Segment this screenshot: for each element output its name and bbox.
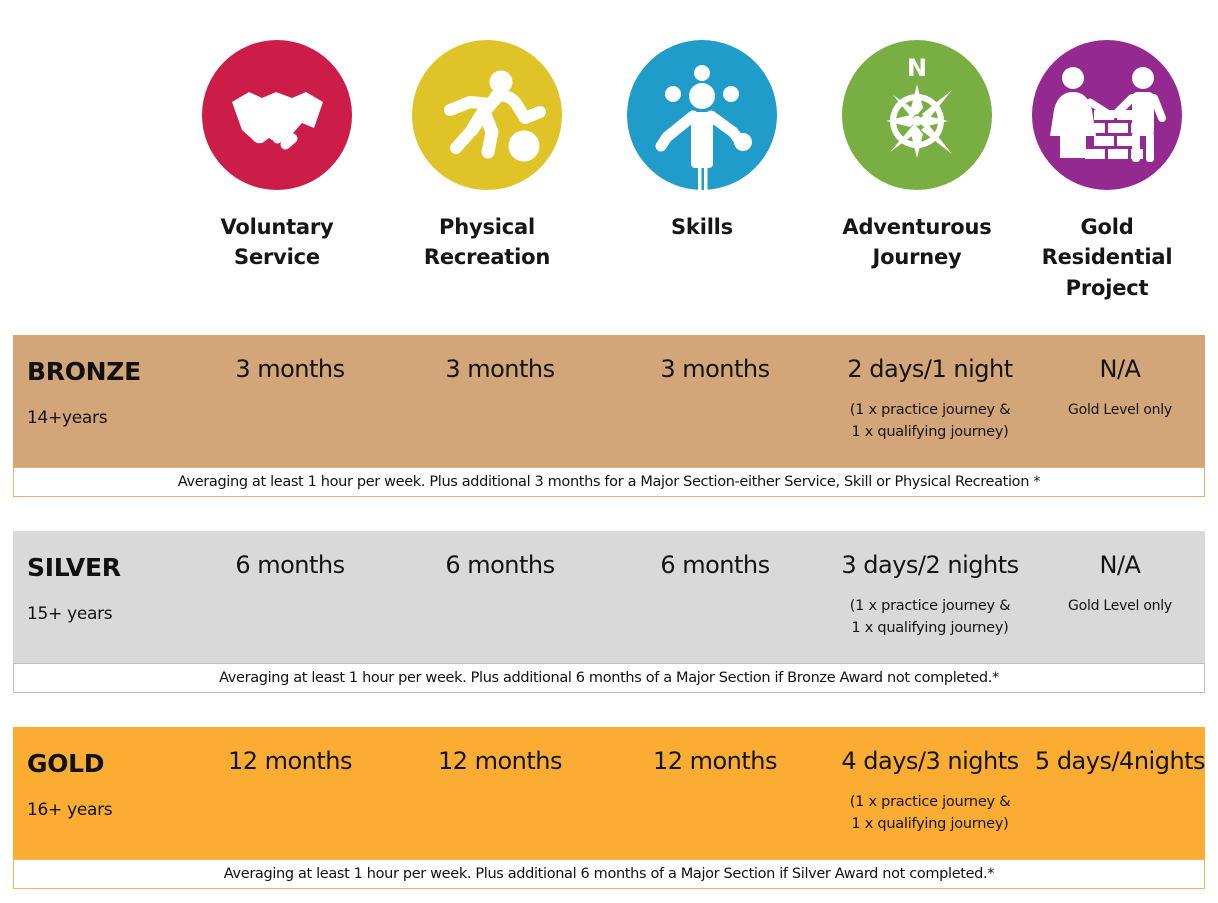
cell-primary-text: 3 months xyxy=(395,355,605,383)
header-label: Skills xyxy=(597,212,807,242)
cell-gold-residential-project: N/A Gold Level only xyxy=(1015,531,1218,663)
level-name: GOLD xyxy=(27,749,104,778)
bricklayers-icon xyxy=(1032,40,1182,190)
header-label: Voluntary Service xyxy=(172,212,382,273)
header-label: Physical Recreation xyxy=(382,212,592,273)
header-column-physical-recreation: Physical Recreation xyxy=(382,0,592,330)
footer-note-text: Averaging at least 1 hour per week. Plus… xyxy=(178,474,1040,490)
cell-adventurous-journey: 4 days/3 nights (1 x practice journey & … xyxy=(825,727,1035,859)
header-column-adventurous-journey: N Adventurous Journey xyxy=(812,0,1022,330)
cell-physical-recreation: 12 months xyxy=(395,727,605,859)
cell-skills: 3 months xyxy=(610,335,820,467)
band-footer-note: Averaging at least 1 hour per week. Plus… xyxy=(13,859,1205,889)
cell-voluntary-service: 3 months xyxy=(185,335,395,467)
cell-adventurous-journey: 3 days/2 nights (1 x practice journey & … xyxy=(825,531,1035,663)
cell-primary-text: 6 months xyxy=(610,551,820,579)
footer-note-text: Averaging at least 1 hour per week. Plus… xyxy=(219,670,999,686)
header-label: Gold Residential Project xyxy=(1002,212,1212,303)
footer-note-text: Averaging at least 1 hour per week. Plus… xyxy=(224,866,994,882)
band-footer-note: Averaging at least 1 hour per week. Plus… xyxy=(13,663,1205,693)
cell-primary-text: 6 months xyxy=(185,551,395,579)
cell-primary-text: 2 days/1 night xyxy=(825,355,1035,383)
header-column-skills: Skills xyxy=(597,0,807,330)
level-age: 15+ years xyxy=(27,604,112,624)
cell-primary-text: 12 months xyxy=(610,747,820,775)
handshake-icon xyxy=(202,40,352,190)
cell-primary-text: 5 days/4nights xyxy=(1015,747,1218,775)
cell-primary-text: 4 days/3 nights xyxy=(825,747,1035,775)
cell-gold-residential-project: N/A Gold Level only xyxy=(1015,335,1218,467)
cell-sub-text: (1 x practice journey & 1 x qualifying j… xyxy=(825,596,1035,640)
header-column-gold-residential-project: Gold Residential Project xyxy=(1002,0,1212,330)
cell-primary-text: N/A xyxy=(1015,355,1218,383)
band-footer-note: Averaging at least 1 hour per week. Plus… xyxy=(13,467,1205,497)
level-name: BRONZE xyxy=(27,357,141,386)
award-band-silver: SILVER 15+ years 6 months 6 months 6 mon… xyxy=(13,531,1205,693)
award-band-gold: GOLD 16+ years 12 months 12 months 12 mo… xyxy=(13,727,1205,889)
juggler-icon xyxy=(627,40,777,190)
cell-primary-text: 12 months xyxy=(185,747,395,775)
compass-icon: N xyxy=(842,40,992,190)
cell-primary-text: 3 months xyxy=(610,355,820,383)
level-age: 16+ years xyxy=(27,800,112,820)
cell-physical-recreation: 6 months xyxy=(395,531,605,663)
cell-sub-text: Gold Level only xyxy=(1015,596,1218,617)
cell-voluntary-service: 6 months xyxy=(185,531,395,663)
band-main-row: SILVER 15+ years 6 months 6 months 6 mon… xyxy=(13,531,1205,663)
cell-sub-text: (1 x practice journey & 1 x qualifying j… xyxy=(825,400,1035,444)
cell-sub-text: Gold Level only xyxy=(1015,400,1218,421)
cell-voluntary-service: 12 months xyxy=(185,727,395,859)
section-header: Voluntary Service Physical Recreation xyxy=(0,0,1218,330)
cell-primary-text: 6 months xyxy=(395,551,605,579)
footballer-icon xyxy=(412,40,562,190)
cell-adventurous-journey: 2 days/1 night (1 x practice journey & 1… xyxy=(825,335,1035,467)
svg-text:N: N xyxy=(907,54,927,82)
cell-skills: 6 months xyxy=(610,531,820,663)
level-age: 14+years xyxy=(27,408,107,428)
level-name: SILVER xyxy=(27,553,121,582)
band-main-row: BRONZE 14+years 3 months 3 months 3 mont… xyxy=(13,335,1205,467)
cell-primary-text: 3 days/2 nights xyxy=(825,551,1035,579)
band-main-row: GOLD 16+ years 12 months 12 months 12 mo… xyxy=(13,727,1205,859)
header-label: Adventurous Journey xyxy=(812,212,1022,273)
header-column-voluntary-service: Voluntary Service xyxy=(172,0,382,330)
cell-primary-text: N/A xyxy=(1015,551,1218,579)
award-band-bronze: BRONZE 14+years 3 months 3 months 3 mont… xyxy=(13,335,1205,497)
cell-gold-residential-project: 5 days/4nights xyxy=(1015,727,1218,859)
cell-sub-text: (1 x practice journey & 1 x qualifying j… xyxy=(825,792,1035,836)
cell-skills: 12 months xyxy=(610,727,820,859)
cell-physical-recreation: 3 months xyxy=(395,335,605,467)
cell-primary-text: 3 months xyxy=(185,355,395,383)
cell-primary-text: 12 months xyxy=(395,747,605,775)
